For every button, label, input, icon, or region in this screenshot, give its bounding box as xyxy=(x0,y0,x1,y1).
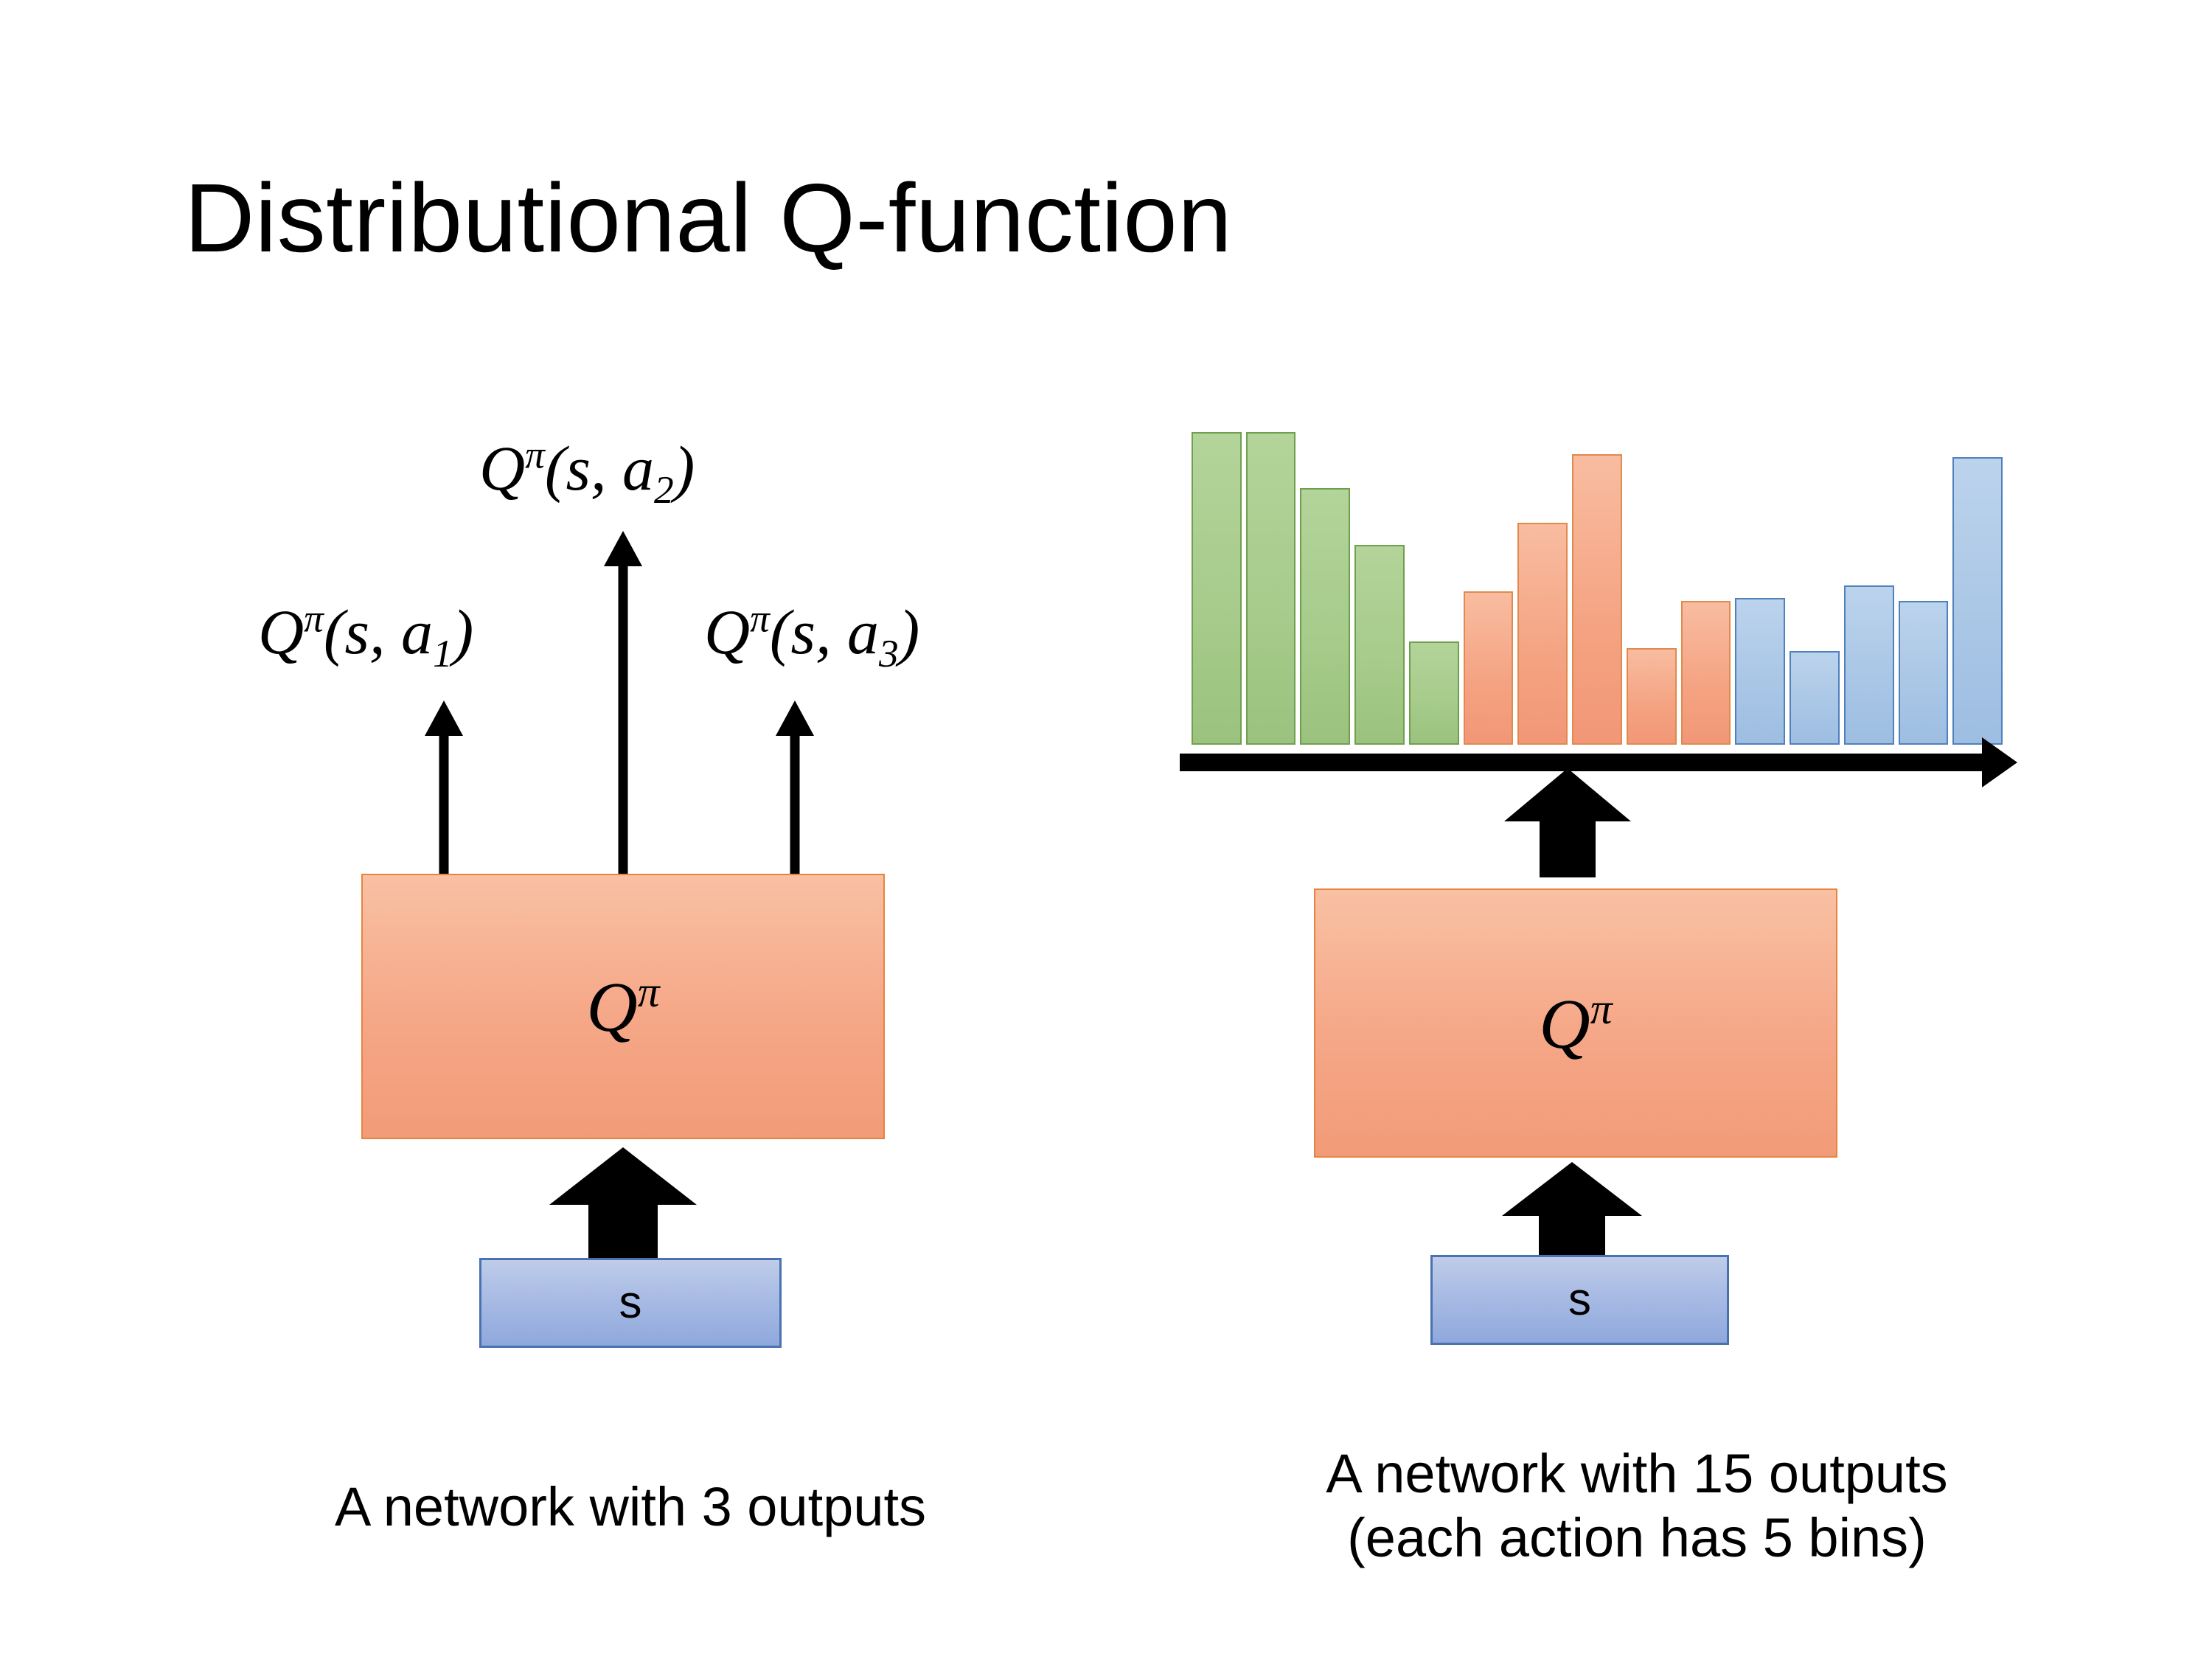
histogram-bar xyxy=(1952,457,2003,745)
left-input-block-arrow-icon xyxy=(546,1147,700,1265)
output-label-a1-text: Qπ(s, a1) xyxy=(258,597,473,667)
histogram-bar xyxy=(1572,454,1622,745)
page-title: Distributional Q-function xyxy=(184,164,1232,273)
histogram-bar xyxy=(1409,641,1459,745)
output-arrow-a2-icon xyxy=(601,531,645,877)
histogram-bar xyxy=(1844,585,1894,745)
right-state-box[interactable]: s xyxy=(1430,1255,1729,1345)
output-arrow-a1-icon xyxy=(422,700,466,877)
histogram-bar xyxy=(1300,488,1350,745)
left-state-box[interactable]: s xyxy=(479,1258,782,1348)
output-label-a3-text: Qπ(s, a3) xyxy=(704,597,919,667)
output-label-a2: Qπ(s, a2) xyxy=(479,435,695,509)
histogram-bar xyxy=(1735,598,1785,745)
right-network-box[interactable]: Qπ xyxy=(1314,888,1837,1158)
left-state-box-label: s xyxy=(481,1280,779,1326)
left-network-box-label: Qπ xyxy=(363,970,883,1043)
left-network-box[interactable]: Qπ xyxy=(361,874,885,1139)
output-arrow-a3-icon xyxy=(773,700,817,877)
output-label-a1: Qπ(s, a1) xyxy=(258,599,473,673)
histogram-bar xyxy=(1517,523,1568,745)
output-label-a3: Qπ(s, a3) xyxy=(704,599,919,673)
histogram-bar xyxy=(1627,648,1677,745)
histogram-bar xyxy=(1192,432,1242,745)
histogram-bar xyxy=(1790,651,1840,745)
right-output-block-arrow-icon xyxy=(1501,768,1634,879)
histogram-bar xyxy=(1246,432,1296,745)
distribution-histogram xyxy=(1192,432,2003,745)
histogram-bar xyxy=(1899,601,1949,745)
histogram-bar xyxy=(1354,545,1405,745)
histogram-bar xyxy=(1464,591,1514,745)
right-network-box-label: Qπ xyxy=(1315,987,1836,1060)
slide-canvas: Distributional Q-function Qπ(s, a2) Qπ(s… xyxy=(0,0,2212,1659)
histogram-bar xyxy=(1681,601,1731,745)
right-caption: A network with 15 outputs (each action h… xyxy=(1150,1441,2124,1571)
right-state-box-label: s xyxy=(1433,1277,1727,1323)
left-caption: A network with 3 outputs xyxy=(133,1475,1128,1539)
output-label-a2-text: Qπ(s, a2) xyxy=(479,433,695,504)
